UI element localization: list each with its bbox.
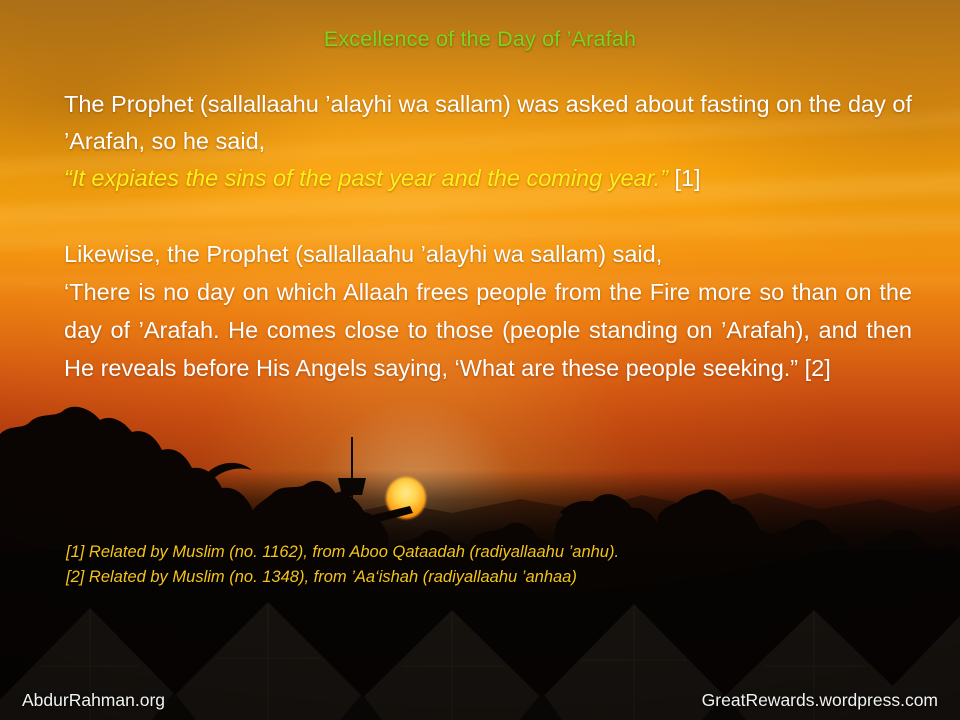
footer-site-left: AbdurRahman.org — [22, 690, 165, 711]
slide-footer: AbdurRahman.org GreatRewards.wordpress.c… — [0, 684, 960, 716]
page-title: Excellence of the Day of ’Arafah — [0, 27, 960, 52]
slide-canvas: Excellence of the Day of ’Arafah The Pro… — [0, 0, 960, 720]
paragraph-spacer — [64, 197, 912, 235]
footnote-2: [2] Related by Muslim (no. 1348), from ’… — [66, 565, 926, 590]
body-text-block: The Prophet (sallallaahu ’alayhi wa sall… — [64, 86, 912, 387]
paragraph-one-quote: “It expiates the sins of the past year a… — [64, 165, 668, 191]
paragraph-one: The Prophet (sallallaahu ’alayhi wa sall… — [64, 86, 912, 197]
footnote-1: [1] Related by Muslim (no. 1162), from A… — [66, 540, 926, 565]
footnotes-block: [1] Related by Muslim (no. 1162), from A… — [66, 540, 926, 590]
paragraph-two-lead: Likewise, the Prophet (sallallaahu ’alay… — [64, 241, 662, 267]
paragraph-one-reference: [1] — [674, 165, 700, 191]
paragraph-two-quote: ‘There is no day on which Allaah frees p… — [64, 279, 912, 381]
paragraph-two: Likewise, the Prophet (sallallaahu ’alay… — [64, 235, 912, 387]
paragraph-one-lead: The Prophet (sallallaahu ’alayhi wa sall… — [64, 91, 912, 154]
slide-content: Excellence of the Day of ’Arafah The Pro… — [0, 0, 960, 720]
paragraph-two-reference: [2] — [805, 355, 831, 381]
footer-site-right: GreatRewards.wordpress.com — [702, 690, 938, 711]
